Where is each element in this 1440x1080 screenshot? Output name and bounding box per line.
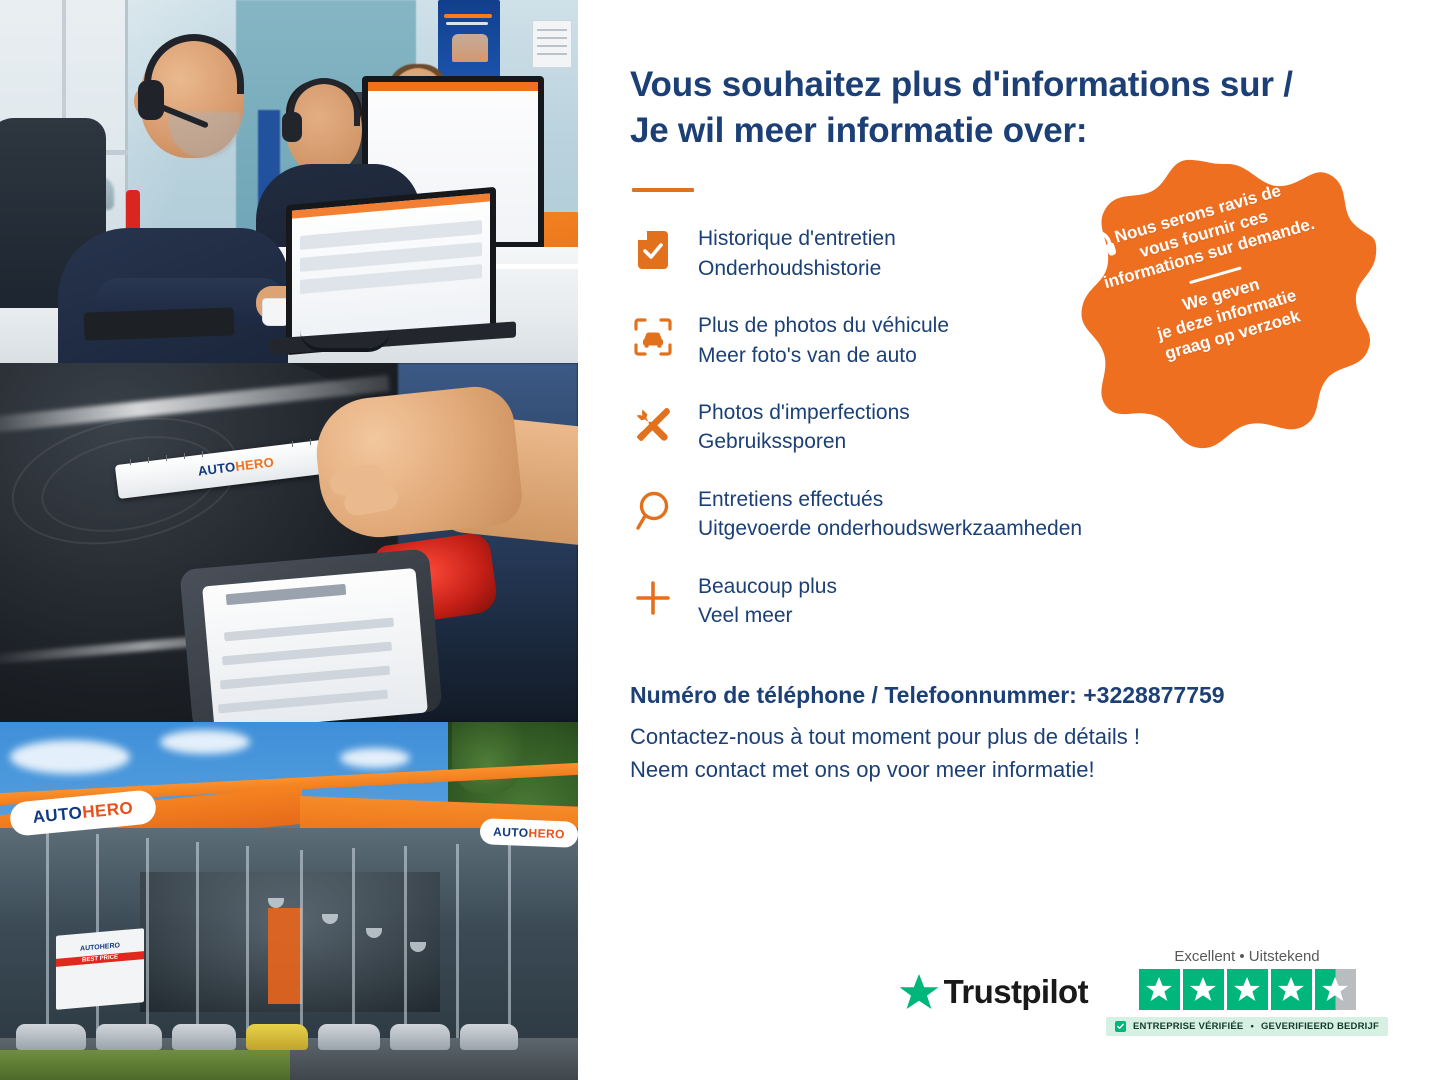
trustpilot-rating-text: Excellent • Uitstekend: [1174, 948, 1319, 965]
trustpilot-widget[interactable]: Trustpilot Excellent • Uitstekend: [898, 948, 1388, 1036]
star-filled: [1271, 969, 1312, 1010]
interior-poster: AUTOHEROBEST PRICE: [56, 928, 144, 1010]
star-filled: [1183, 969, 1224, 1010]
list-item-label: Beaucoup plus Veel meer: [698, 570, 837, 631]
feature-nl: Gebruikssporen: [698, 427, 910, 456]
plus-icon: [630, 570, 676, 622]
list-item: Plus de photos du véhicule Meer foto's v…: [630, 309, 1388, 370]
title-divider: [632, 188, 694, 192]
headline-line-fr: Vous souhaitez plus d'informations sur /: [630, 65, 1293, 104]
brand-name-part2: HERO: [81, 798, 134, 823]
tools-icon: [630, 396, 676, 448]
feature-list: Historique d'entretien Onderhoudshistori…: [630, 222, 1388, 630]
verified-label-fr: ENTREPRISE VÉRIFIÉE: [1133, 1021, 1243, 1032]
star-filled: [1227, 969, 1268, 1010]
contact-line-nl: Neem contact met ons op voor meer inform…: [630, 754, 1388, 787]
brand-name-part1: AUTO: [32, 803, 84, 828]
feature-fr: Entretiens effectués: [698, 488, 883, 511]
trustpilot-rating-block: Excellent • Uitstekend: [1106, 948, 1388, 1036]
magnifier-icon: [630, 483, 676, 535]
brand-name-part1: AUTO: [493, 825, 529, 840]
vehicle-inspection-photo: AUTOHERO: [0, 363, 578, 722]
feature-nl: Uitgevoerde onderhoudswerkzaamheden: [698, 514, 1082, 543]
verified-label-nl: GEVERIFIEERD BEDRIJF: [1261, 1021, 1379, 1032]
marketing-flyer: AUTOHERO: [0, 0, 1440, 1080]
feature-fr: Photos d'imperfections: [698, 401, 910, 424]
contact-line-fr: Contactez-nous à tout moment pour plus d…: [630, 721, 1388, 754]
autohero-dealership-photo: AUTOHEROBEST PRICE AUTOHERO AUTOHERO: [0, 722, 578, 1080]
list-item: Beaucoup plus Veel meer: [630, 570, 1388, 631]
list-item: Historique d'entretien Onderhoudshistori…: [630, 222, 1388, 283]
feature-nl: Onderhoudshistorie: [698, 254, 896, 283]
list-item-label: Photos d'imperfections Gebruikssporen: [698, 396, 910, 457]
headline-line-nl: Je wil meer informatie over:: [630, 111, 1087, 150]
trustpilot-stars: [1139, 969, 1356, 1010]
phone-number-label[interactable]: Numéro de téléphone / Telefoonnummer: +3…: [630, 682, 1388, 709]
star-half: [1315, 969, 1356, 1010]
call-centre-agents-photo: [0, 0, 578, 363]
trustpilot-star-icon: [898, 972, 940, 1012]
content-panel: Vous souhaitez plus d'informations sur /…: [578, 0, 1440, 1080]
photo-column: AUTOHERO: [0, 0, 578, 1080]
feature-fr: Beaucoup plus: [698, 575, 837, 598]
feature-nl: Meer foto's van de auto: [698, 341, 949, 370]
list-item-label: Entretiens effectués Uitgevoerde onderho…: [698, 483, 1082, 544]
trustpilot-logo: Trustpilot: [898, 972, 1088, 1012]
car-viewfinder-icon: [630, 309, 676, 361]
verified-separator: •: [1250, 1021, 1254, 1032]
trustpilot-wordmark: Trustpilot: [944, 973, 1088, 1011]
brand-name-part1: AUTO: [197, 459, 236, 478]
contact-block: Numéro de téléphone / Telefoonnummer: +3…: [630, 682, 1388, 786]
verified-business-badge: ENTREPRISE VÉRIFIÉE • GEVERIFIEERD BEDRI…: [1106, 1017, 1388, 1036]
list-item: Photos d'imperfections Gebruikssporen: [630, 396, 1388, 457]
document-check-icon: [630, 222, 676, 274]
list-item: Entretiens effectués Uitgevoerde onderho…: [630, 483, 1388, 544]
page-title: Vous souhaitez plus d'informations sur /…: [630, 62, 1388, 154]
feature-nl: Veel meer: [698, 601, 837, 630]
feature-fr: Plus de photos du véhicule: [698, 314, 949, 337]
feature-fr: Historique d'entretien: [698, 227, 896, 250]
star-filled: [1139, 969, 1180, 1010]
list-item-label: Plus de photos du véhicule Meer foto's v…: [698, 309, 949, 370]
list-item-label: Historique d'entretien Onderhoudshistori…: [698, 222, 896, 283]
brand-name-part2: HERO: [528, 826, 565, 841]
autohero-sign-right: AUTOHERO: [480, 818, 578, 848]
check-icon: [1115, 1021, 1126, 1032]
